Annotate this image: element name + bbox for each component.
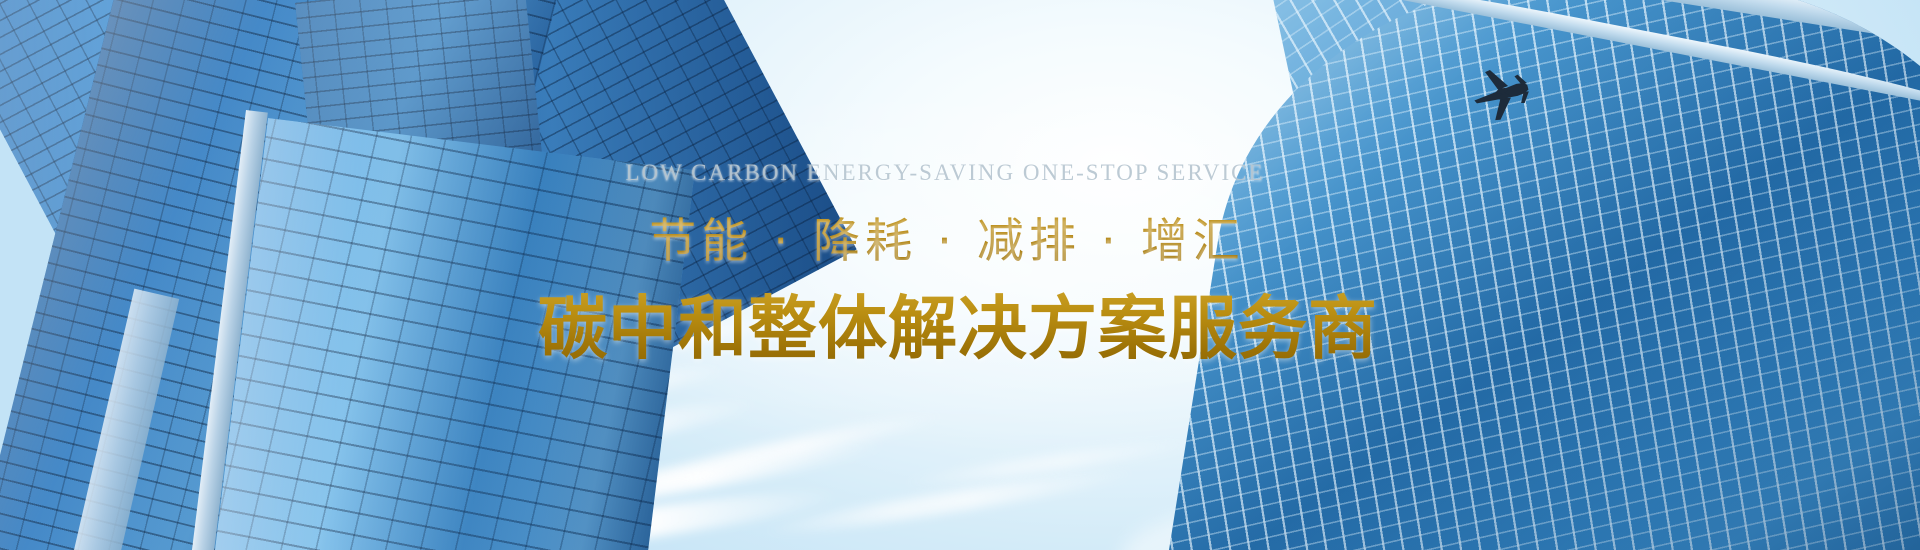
hero-banner: LOW CARBON ENERGY-SAVING ONE-STOP SERVIC… xyxy=(0,0,1920,550)
banner-subtitle: 节能 · 降耗 · 减排 · 增汇 xyxy=(0,202,1907,271)
banner-headline: 碳中和整体解决方案服务商 xyxy=(0,272,1918,372)
banner-tagline: LOW CARBON ENERGY-SAVING ONE-STOP SERVIC… xyxy=(0,160,1905,186)
banner-text-block: LOW CARBON ENERGY-SAVING ONE-STOP SERVIC… xyxy=(0,0,1920,550)
